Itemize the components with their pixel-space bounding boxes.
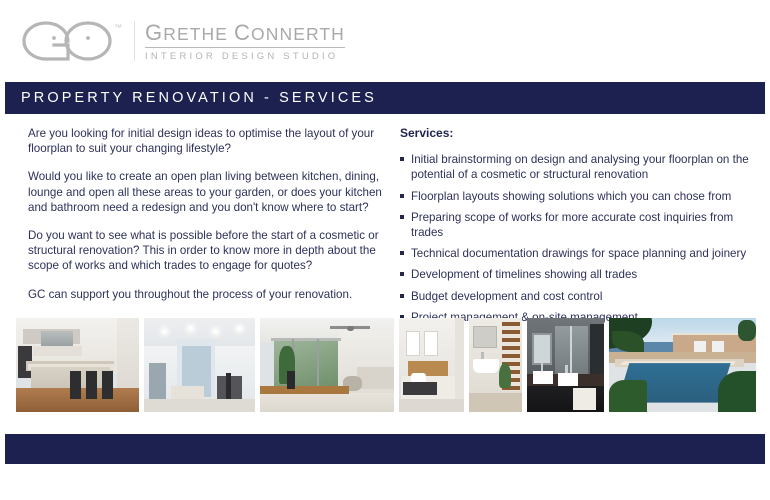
photo-bathroom-basin [469, 318, 523, 412]
list-item-label: Technical documentation drawings for spa… [411, 247, 746, 260]
services-heading: Services: [400, 126, 752, 141]
list-item-label: Floorplan layouts showing solutions whic… [411, 190, 731, 203]
bullet-square-icon [400, 215, 404, 219]
brand-wordmark: GRETHE CONNERTH INTERIOR DESIGN STUDIO [145, 20, 345, 62]
services-column: Services: Initial brainstorming on desig… [400, 126, 752, 331]
content-area: Are you looking for initial design ideas… [0, 126, 770, 306]
list-item: Floorplan layouts showing solutions whic… [400, 189, 752, 204]
list-item-label: Budget development and cost control [411, 290, 602, 303]
photo-gallery-strip [16, 318, 756, 412]
list-item: Development of timelines showing all tra… [400, 267, 752, 282]
list-item: Preparing scope of works for more accura… [400, 210, 752, 240]
page-title: PROPERTY RENOVATION - SERVICES [5, 90, 377, 106]
intro-paragraph: Would you like to create an open plan li… [28, 169, 386, 215]
intro-column: Are you looking for initial design ideas… [28, 126, 386, 302]
brand-name: GRETHE CONNERTH [145, 22, 345, 48]
bullet-square-icon [400, 272, 404, 276]
photo-bathroom-twin-basins [527, 318, 603, 412]
photo-open-plan-interior [144, 318, 255, 412]
trademark-icon: ™ [114, 23, 122, 32]
intro-paragraph: GC can support you throughout the proces… [28, 287, 386, 302]
intro-paragraph: Are you looking for initial design ideas… [28, 126, 386, 156]
list-item: Technical documentation drawings for spa… [400, 246, 752, 261]
brand-header: ™ GRETHE CONNERTH INTERIOR DESIGN STUDIO [22, 12, 345, 70]
brand-divider [134, 21, 135, 61]
footer-bar [5, 434, 765, 464]
list-item: Initial brainstorming on design and anal… [400, 152, 752, 182]
photo-pool-ocean [609, 318, 756, 412]
photo-kitchen-island [16, 318, 139, 412]
bullet-square-icon [400, 294, 404, 298]
list-item: Budget development and cost control [400, 289, 752, 304]
bullet-square-icon [400, 157, 404, 161]
list-item-label: Initial brainstorming on design and anal… [411, 153, 749, 181]
bullet-square-icon [400, 251, 404, 255]
bullet-square-icon [400, 194, 404, 198]
intro-paragraph: Do you want to see what is possible befo… [28, 228, 386, 274]
photo-living-to-garden [260, 318, 394, 412]
services-list: Initial brainstorming on design and anal… [400, 152, 752, 325]
photo-bedroom [399, 318, 463, 412]
gc-monogram-logo: ™ [22, 16, 128, 66]
list-item-label: Development of timelines showing all tra… [411, 268, 637, 281]
page-title-bar: PROPERTY RENOVATION - SERVICES [5, 82, 765, 114]
list-item-label: Preparing scope of works for more accura… [411, 211, 733, 239]
brand-subtitle: INTERIOR DESIGN STUDIO [145, 52, 345, 62]
